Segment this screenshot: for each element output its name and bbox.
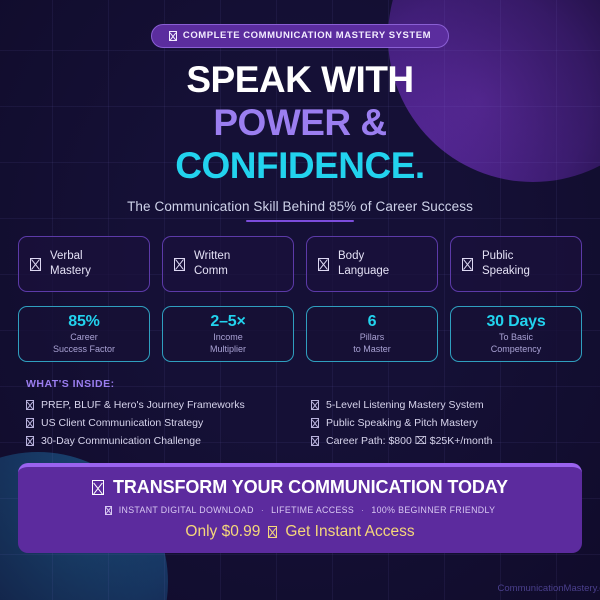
cta-feature-3: 100% BEGINNER FRIENDLY bbox=[371, 505, 495, 515]
feature-card-label: PublicSpeaking bbox=[482, 249, 530, 278]
cta-feature-list: INSTANT DIGITAL DOWNLOAD · LIFETIME ACCE… bbox=[18, 505, 582, 515]
tofu-icon bbox=[169, 31, 177, 41]
stat-label: CareerSuccess Factor bbox=[53, 332, 115, 355]
subheadline-underline bbox=[246, 220, 354, 222]
cta-price-row[interactable]: Only $0.99 Get Instant Access bbox=[18, 523, 582, 541]
stat-label: To BasicCompetency bbox=[491, 332, 542, 355]
poster-content: COMPLETE COMMUNICATION MASTERY SYSTEM SP… bbox=[0, 0, 600, 600]
tofu-icon bbox=[311, 400, 319, 410]
tofu-icon bbox=[268, 526, 277, 538]
separator-dot: · bbox=[361, 505, 364, 515]
list-item: 5-Level Listening Mastery System bbox=[311, 399, 582, 411]
cta-title-row: TRANSFORM YOUR COMMUNICATION TODAY bbox=[18, 477, 582, 498]
system-badge: COMPLETE COMMUNICATION MASTERY SYSTEM bbox=[151, 24, 449, 48]
stat-card[interactable]: 6 Pillarsto Master bbox=[306, 306, 438, 362]
tofu-icon bbox=[26, 400, 34, 410]
feature-card-label: BodyLanguage bbox=[338, 249, 389, 278]
tofu-icon bbox=[30, 258, 41, 271]
cta-action-label[interactable]: Get Instant Access bbox=[285, 523, 414, 541]
feature-card[interactable]: BodyLanguage bbox=[306, 236, 438, 292]
feature-card-label: WrittenComm bbox=[194, 249, 230, 278]
list-item-label: US Client Communication Strategy bbox=[41, 417, 203, 429]
cta-price: Only $0.99 bbox=[185, 523, 260, 541]
feature-card-label: VerbalMastery bbox=[50, 249, 91, 278]
stat-value: 30 Days bbox=[486, 313, 545, 331]
tofu-icon bbox=[26, 418, 34, 428]
cta-feature-1: INSTANT DIGITAL DOWNLOAD bbox=[119, 505, 254, 515]
headline-line-1: SPEAK WITH bbox=[18, 61, 582, 98]
list-item: Career Path: $800 ⌧ $25K+/month bbox=[311, 435, 582, 447]
list-item: Public Speaking & Pitch Mastery bbox=[311, 417, 582, 429]
headline-block: SPEAK WITH POWER & CONFIDENCE. bbox=[18, 61, 582, 184]
stat-label: IncomeMultiplier bbox=[210, 332, 246, 355]
watermark: CommunicationMastery.c bbox=[498, 583, 600, 594]
badge-row: COMPLETE COMMUNICATION MASTERY SYSTEM bbox=[18, 0, 582, 48]
tofu-icon bbox=[174, 258, 185, 271]
tofu-icon bbox=[26, 436, 34, 446]
tofu-icon bbox=[311, 436, 319, 446]
stat-card[interactable]: 30 Days To BasicCompetency bbox=[450, 306, 582, 362]
list-item-label: Public Speaking & Pitch Mastery bbox=[326, 417, 478, 429]
feature-card-row: VerbalMastery WrittenComm BodyLanguage P… bbox=[18, 236, 582, 292]
tofu-icon bbox=[318, 258, 329, 271]
stat-card-row: 85% CareerSuccess Factor 2–5× IncomeMult… bbox=[18, 306, 582, 362]
badge-label: COMPLETE COMMUNICATION MASTERY SYSTEM bbox=[183, 30, 431, 41]
list-item-label: 30-Day Communication Challenge bbox=[41, 435, 201, 447]
separator-dot: · bbox=[261, 505, 264, 515]
feature-card[interactable]: PublicSpeaking bbox=[450, 236, 582, 292]
stat-label: Pillarsto Master bbox=[353, 332, 391, 355]
list-item: US Client Communication Strategy bbox=[26, 417, 297, 429]
cta-feature-2: LIFETIME ACCESS bbox=[271, 505, 354, 515]
stat-value: 2–5× bbox=[210, 313, 245, 331]
tofu-icon bbox=[92, 480, 104, 495]
headline-line-2: POWER & bbox=[18, 104, 582, 141]
stat-value: 6 bbox=[368, 313, 377, 331]
whats-inside-grid: PREP, BLUF & Hero's Journey Frameworks 5… bbox=[18, 399, 582, 447]
promo-poster: COMPLETE COMMUNICATION MASTERY SYSTEM SP… bbox=[0, 0, 600, 600]
feature-card[interactable]: VerbalMastery bbox=[18, 236, 150, 292]
cta-banner[interactable]: TRANSFORM YOUR COMMUNICATION TODAY INSTA… bbox=[18, 463, 582, 553]
feature-card[interactable]: WrittenComm bbox=[162, 236, 294, 292]
stat-card[interactable]: 85% CareerSuccess Factor bbox=[18, 306, 150, 362]
cta-title: TRANSFORM YOUR COMMUNICATION TODAY bbox=[113, 477, 508, 498]
list-item: 30-Day Communication Challenge bbox=[26, 435, 297, 447]
stat-value: 85% bbox=[68, 313, 99, 331]
subheadline: The Communication Skill Behind 85% of Ca… bbox=[18, 199, 582, 214]
tofu-icon bbox=[311, 418, 319, 428]
headline-line-3: CONFIDENCE. bbox=[18, 147, 582, 184]
list-item-label: 5-Level Listening Mastery System bbox=[326, 399, 484, 411]
stat-card[interactable]: 2–5× IncomeMultiplier bbox=[162, 306, 294, 362]
list-item-label: PREP, BLUF & Hero's Journey Frameworks bbox=[41, 399, 245, 411]
tofu-icon bbox=[462, 258, 473, 271]
list-item: PREP, BLUF & Hero's Journey Frameworks bbox=[26, 399, 297, 411]
tofu-icon bbox=[105, 506, 112, 515]
list-item-label: Career Path: $800 ⌧ $25K+/month bbox=[326, 435, 493, 447]
whats-inside-title: WHAT'S INSIDE: bbox=[18, 378, 582, 390]
